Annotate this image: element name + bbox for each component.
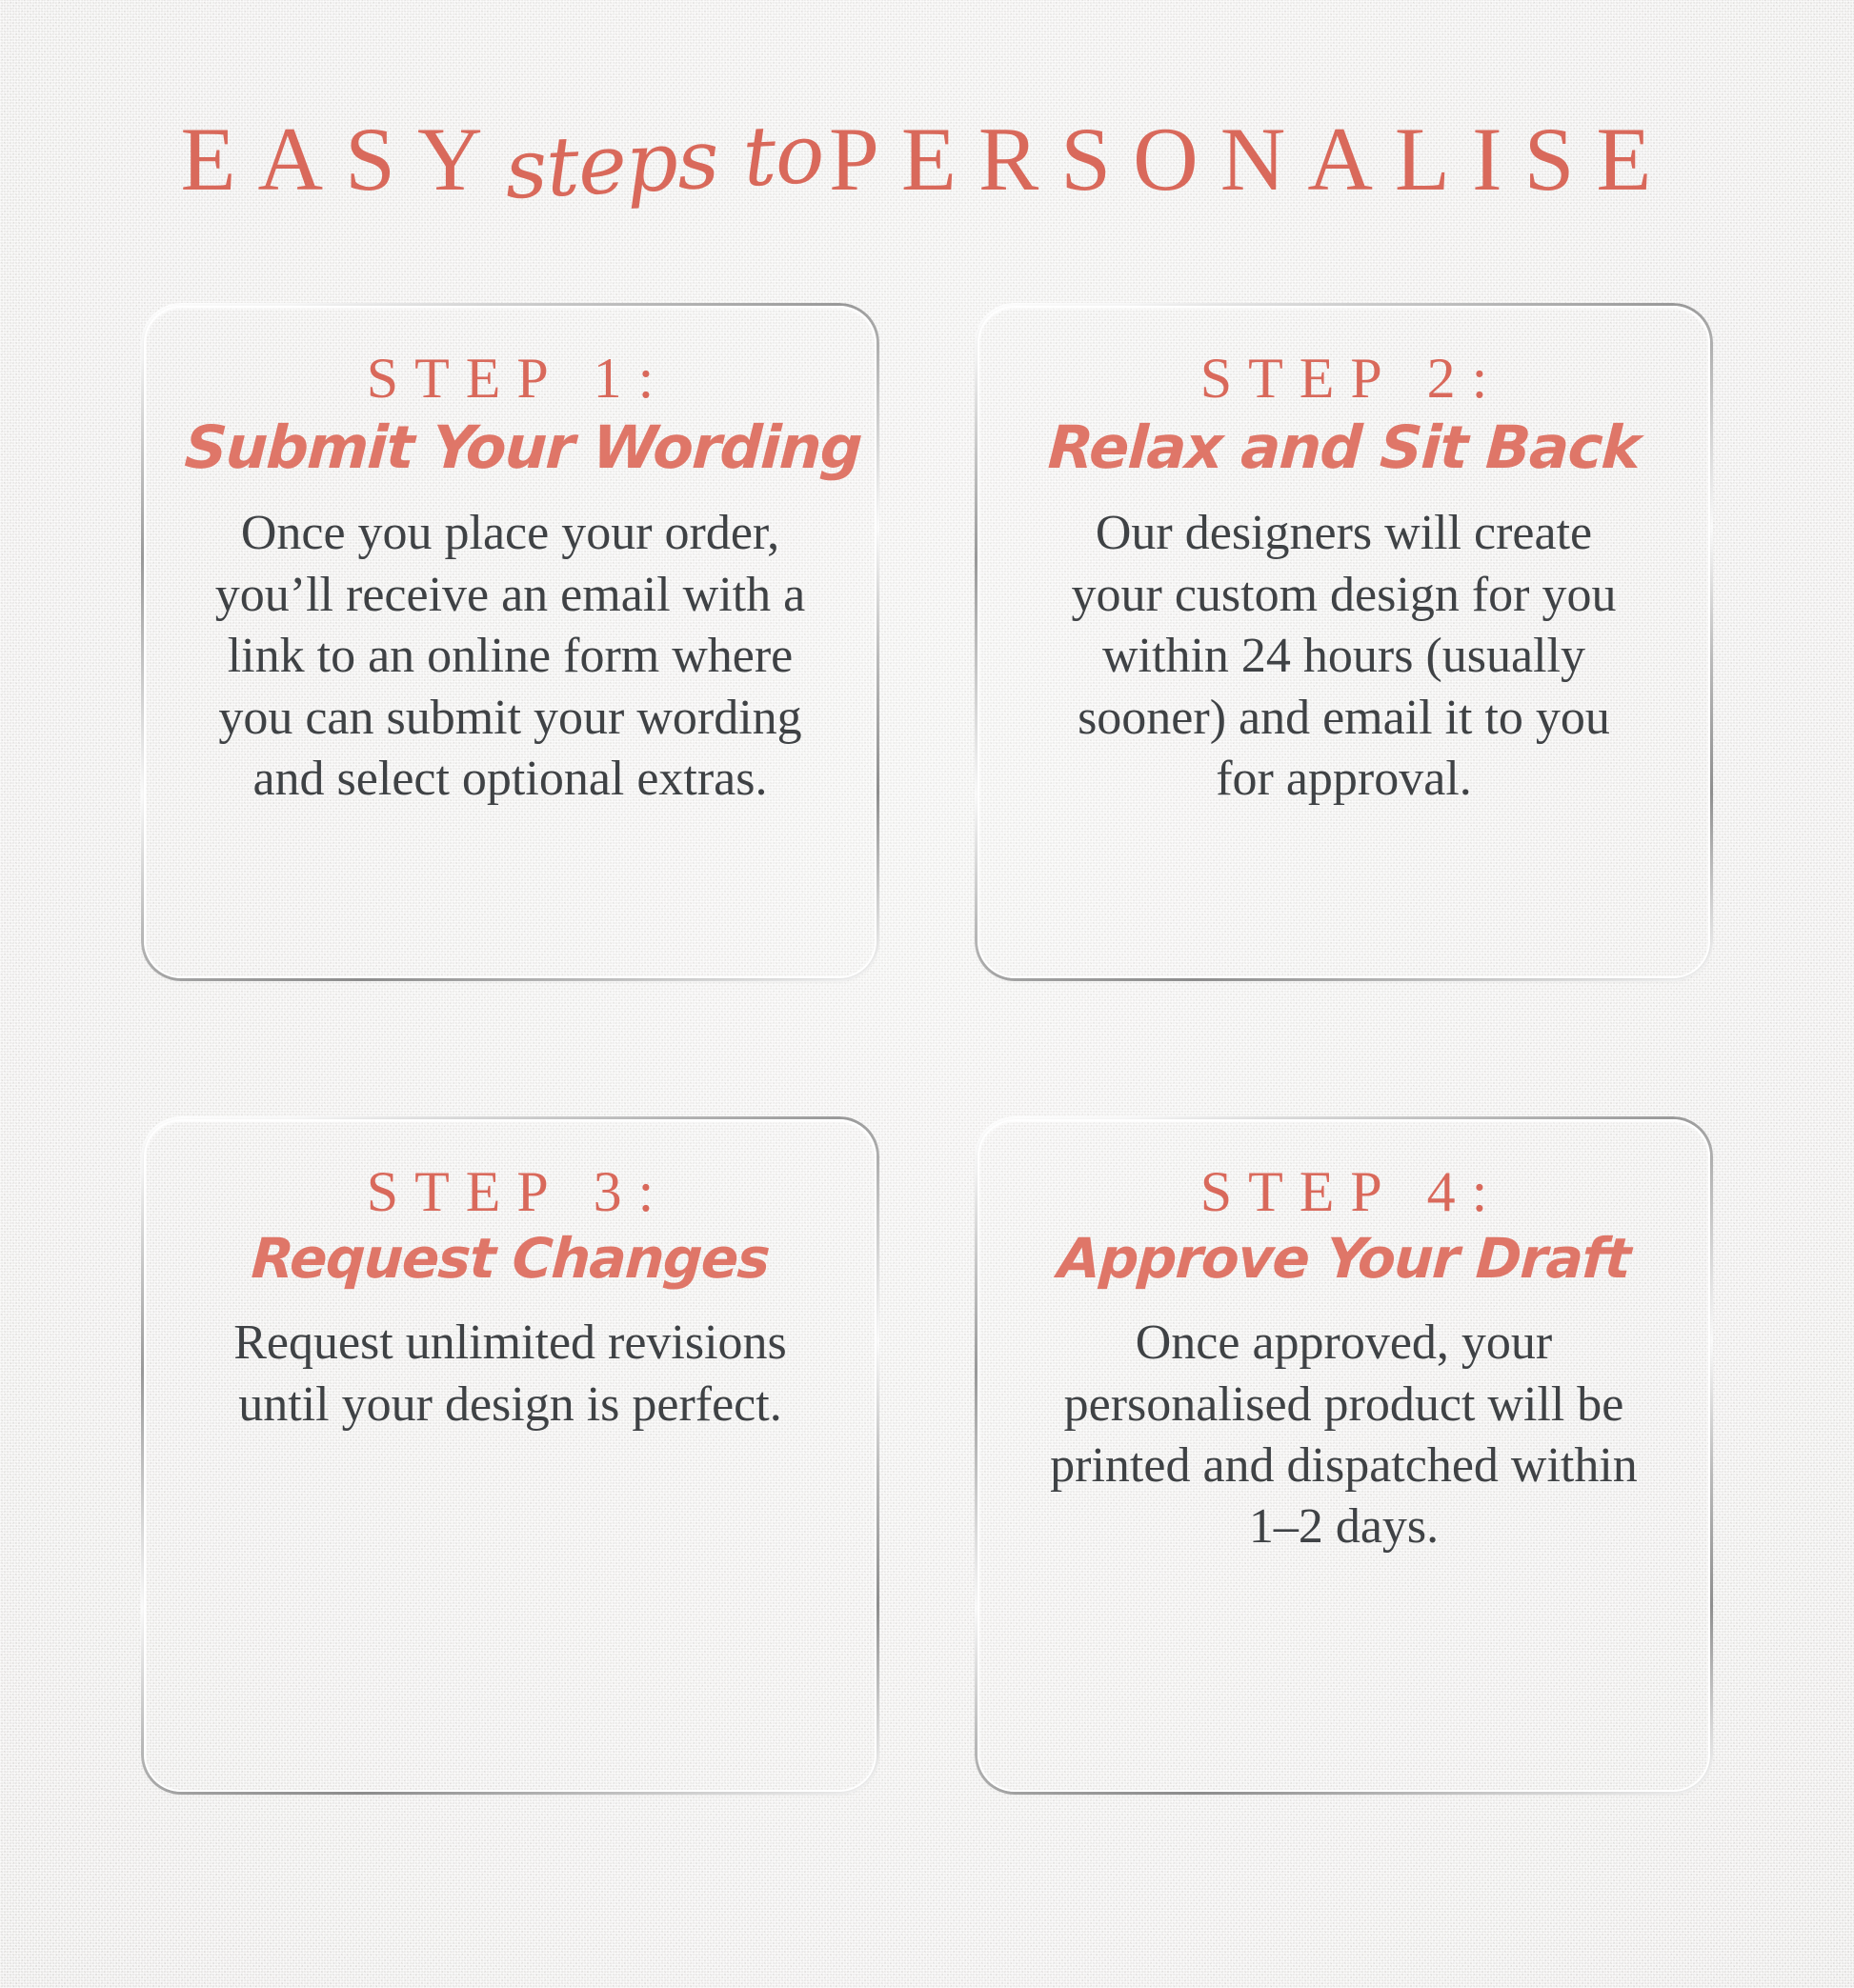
step-card-4-label: STEP 4: (1018, 1160, 1669, 1224)
page-title: EASYsteps toPERSONALISE (0, 114, 1854, 205)
step-card-3-content: STEP 3: Request Changes Request unlimite… (141, 1116, 879, 1795)
step-card-3-title: Request Changes (183, 1230, 836, 1288)
headline-part-steps-to: steps to (503, 112, 831, 211)
steps-card-grid: STEP 1: Submit Your Wording Once you pla… (141, 303, 1713, 1894)
step-card-2-label: STEP 2: (1018, 347, 1669, 411)
personalise-steps-page: EASYsteps toPERSONALISE STEP 1: Submit Y… (0, 0, 1854, 1988)
headline-part-personalise: PERSONALISE (829, 109, 1673, 210)
step-card-3: STEP 3: Request Changes Request unlimite… (141, 1116, 879, 1795)
step-card-2: STEP 2: Relax and Sit Back Our designers… (975, 303, 1713, 981)
headline-part-easy: EASY (181, 109, 505, 210)
step-card-1: STEP 1: Submit Your Wording Once you pla… (141, 303, 879, 981)
step-card-2-body: Our designers will create your custom de… (1058, 503, 1630, 810)
step-card-4-content: STEP 4: Approve Your Draft Once approved… (975, 1116, 1713, 1795)
step-card-4: STEP 4: Approve Your Draft Once approved… (975, 1116, 1713, 1795)
step-card-2-content: STEP 2: Relax and Sit Back Our designers… (975, 303, 1713, 981)
step-card-1-content: STEP 1: Submit Your Wording Once you pla… (141, 303, 879, 981)
step-card-3-label: STEP 3: (185, 1160, 836, 1224)
step-card-3-body: Request unlimited revisions until your d… (225, 1313, 796, 1436)
step-card-1-title: Submit Your Wording (183, 416, 836, 478)
step-card-4-body: Once approved, your personalised product… (1035, 1313, 1654, 1558)
step-card-2-title: Relax and Sit Back (1017, 416, 1670, 478)
step-card-4-title: Approve Your Draft (1017, 1230, 1670, 1288)
step-card-1-body: Once you place your order, you’ll receiv… (201, 503, 820, 810)
step-card-1-label: STEP 1: (185, 347, 836, 411)
